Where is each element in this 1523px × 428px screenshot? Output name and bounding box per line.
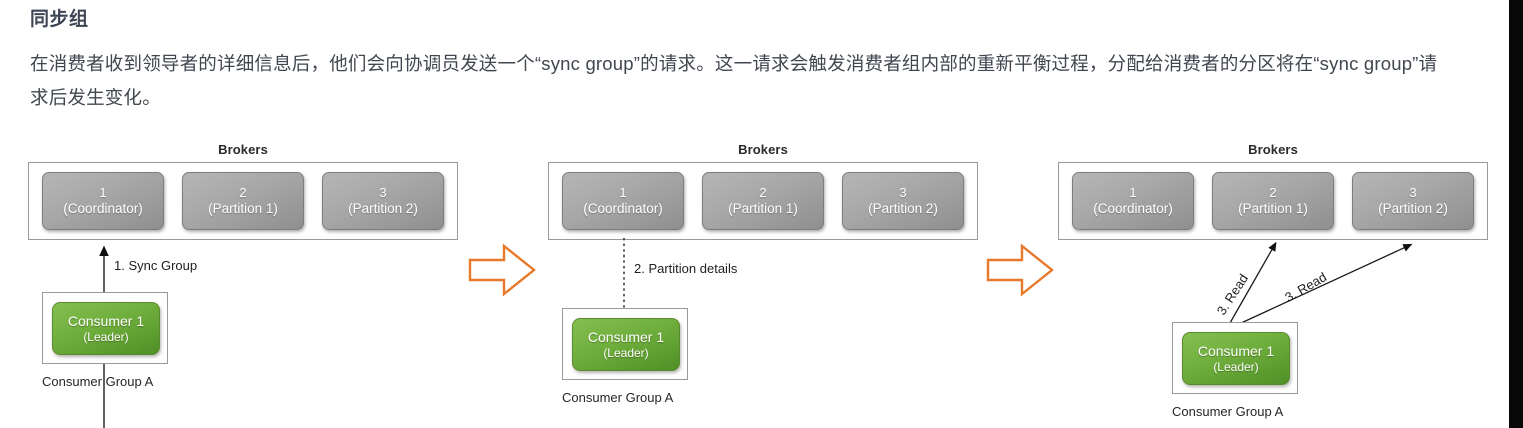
- panel-2-arrow-layer: [548, 138, 978, 428]
- flow-label-sync-group: 1. Sync Group: [114, 258, 197, 273]
- consumer-group-container: Consumer 1 (Leader): [1172, 322, 1298, 394]
- consumer-node-leader: Consumer 1 (Leader): [572, 318, 680, 371]
- kafka-sync-group-diagram: Brokers 1 (Coordinator) 2 (Partition 1) …: [0, 138, 1509, 428]
- diagram-panel-read: Brokers 1 (Coordinator) 2 (Partition 1) …: [1058, 138, 1488, 428]
- consumer-node-leader: Consumer 1 (Leader): [1182, 332, 1290, 385]
- body-paragraph: 在消费者收到领导者的详细信息后，他们会向协调员发送一个“sync group”的…: [30, 47, 1450, 115]
- consumer-role: (Leader): [83, 330, 128, 344]
- consumer-node-leader: Consumer 1 (Leader): [52, 302, 160, 355]
- diagram-panel-partition-details: Brokers 1 (Coordinator) 2 (Partition 1) …: [548, 138, 978, 428]
- consumer-role: (Leader): [603, 346, 648, 360]
- consumer-name: Consumer 1: [1198, 343, 1274, 360]
- step-arrow-icon-1: [468, 242, 536, 298]
- flow-label-partition-details: 2. Partition details: [634, 261, 737, 276]
- diagram-panel-sync-group: Brokers 1 (Coordinator) 2 (Partition 1) …: [28, 138, 458, 428]
- consumer-group-label: Consumer Group A: [1172, 404, 1283, 419]
- consumer-group-container: Consumer 1 (Leader): [42, 292, 168, 364]
- consumer-name: Consumer 1: [588, 329, 664, 346]
- consumer-name: Consumer 1: [68, 313, 144, 330]
- consumer-group-container: Consumer 1 (Leader): [562, 308, 688, 380]
- page-title: 同步组: [30, 8, 1450, 33]
- consumer-role: (Leader): [1213, 360, 1258, 374]
- right-edge-gutter: [1509, 0, 1523, 428]
- consumer-group-label: Consumer Group A: [42, 374, 153, 389]
- article-text-block: 同步组 在消费者收到领导者的详细信息后，他们会向协调员发送一个“sync gro…: [0, 0, 1480, 115]
- consumer-group-label: Consumer Group A: [562, 390, 673, 405]
- step-arrow-icon-2: [986, 242, 1054, 298]
